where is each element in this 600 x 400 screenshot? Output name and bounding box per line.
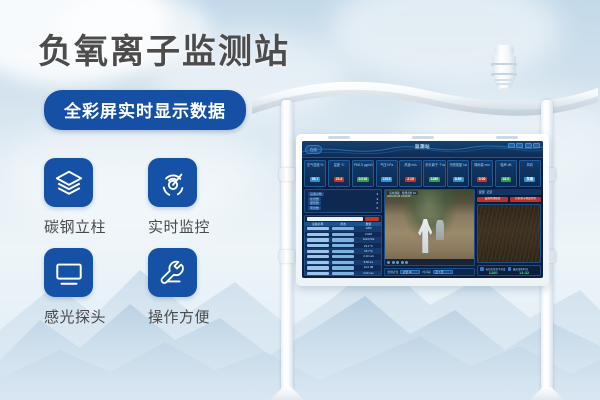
cell-value: 1280: [356, 227, 381, 230]
cell-value: 8.60 lux: [356, 261, 381, 264]
footer-values: 128014:32: [478, 270, 540, 275]
wrench-icon: [148, 248, 197, 297]
kpi-label: 气压 hPa: [378, 163, 396, 167]
range-select[interactable]: 近 7 天: [433, 270, 453, 275]
query-button[interactable]: [365, 217, 379, 221]
kpi-value: 8.60: [453, 177, 464, 182]
feature-item-1: 碳钢立柱: [44, 158, 148, 248]
table-row[interactable]: 0.00 mm: [305, 271, 381, 275]
stat-key: 设备总数: [308, 192, 324, 196]
table-rows: 12800.0181013 hPa23.4 ℃56.7 %2.10 m/s8.6…: [305, 226, 381, 275]
feature-item-3: 感光探头: [44, 248, 148, 338]
kpi-value: 1280: [429, 177, 441, 182]
footer-value: 14:32: [519, 270, 529, 275]
cell-name: [305, 238, 330, 241]
kpi-value: 0.00: [477, 177, 488, 182]
cell-name: [305, 233, 330, 236]
kpi-cell-2: 温度 ℃23.4: [328, 160, 350, 187]
kpi-cell-6: 负氧离子 个/cm31280: [423, 160, 445, 187]
kpi-cell-1: 空气湿度 %56.7: [304, 160, 326, 187]
cell-value: 0.00 mm: [356, 272, 381, 275]
kpi-value: 东南: [524, 177, 535, 182]
cell-value: 0.018: [356, 233, 381, 236]
camera-feed-secondary[interactable]: [477, 204, 541, 264]
filter-controls[interactable]: 监测点位 点位 01 时间段 近 7 天: [384, 268, 475, 276]
kpi-label: 噪声 dB: [497, 163, 515, 167]
stat-value: 3: [377, 192, 379, 196]
kpi-cell-3: PM2.5 μg/m30.018: [352, 160, 374, 187]
cell-value: 2.10 m/s: [356, 255, 381, 258]
cell-value: 23.4 ℃: [356, 244, 381, 248]
cell-value: 56.7 %: [356, 250, 381, 253]
alert-list: 设备离线报警负氧离子浓度异常: [477, 197, 541, 202]
camera-osd-time: 2023-06-18 14:32:05: [387, 195, 410, 198]
kpi-label: 负氧离子 个/cm3: [425, 163, 443, 167]
kpi-value: 56.7: [310, 177, 321, 182]
cell-status: [330, 266, 355, 269]
kpi-cell-7: 光照强度 lux8.60: [447, 160, 469, 187]
cell-value: 1013 hPa: [356, 238, 381, 241]
footer-value: 1280: [489, 270, 498, 275]
feature-item-4: 操作方便: [148, 248, 252, 338]
cell-status: [330, 233, 355, 236]
layers-icon: [44, 158, 93, 207]
kpi-label: PM2.5 μg/m3: [354, 163, 372, 167]
header-mini-widgets: [508, 143, 541, 148]
dashboard-left-column: 设备总数3在线数3报警数0离线数0 设备名称状态数值 12800.0181013…: [304, 189, 382, 276]
dashboard-title: 监测站: [415, 144, 430, 150]
pole-base: [530, 387, 564, 400]
feature-label: 碳钢立柱: [44, 216, 148, 237]
feature-item-2: 实时监控: [148, 158, 252, 248]
kpi-cell-4: 气压 hPa1013: [376, 160, 398, 187]
stat-key: 报警数: [308, 201, 321, 205]
feature-label: 操作方便: [148, 306, 252, 327]
cell-status: [330, 250, 355, 253]
feature-label: 感光探头: [44, 306, 148, 327]
kpi-label: 风向: [521, 163, 539, 167]
led-display-panel: 在线 监测站 空气湿度 %56.7温度 ℃23.4PM2.5 μg/m30.01…: [296, 134, 549, 286]
status-badge: 在线: [305, 145, 322, 154]
page-title: 负氧离子监测站: [38, 24, 290, 73]
cell-value: 42.0 dB: [356, 266, 381, 269]
pole-base: [270, 387, 304, 400]
right-tabs[interactable]: 报警记录: [477, 189, 541, 195]
cell-name: [305, 261, 330, 264]
kpi-value: 23.4: [334, 177, 345, 182]
stat-value: 3: [377, 197, 379, 201]
dashboard-center-column: 实时视频 · 监测点位 01 2023-06-18 14:32:05 监测点位 …: [384, 189, 475, 276]
pole-collar: [279, 250, 296, 263]
feature-grid: 碳钢立柱实时监控感光探头操作方便: [44, 158, 252, 338]
cell-name: [305, 255, 330, 258]
right-footer: 当前负氧离子浓度最近更新时间 128014:32: [477, 265, 541, 276]
kpi-cell-10: 风向东南: [519, 160, 541, 187]
stat-key: 离线数: [308, 206, 321, 210]
stat-value: 0: [377, 206, 379, 210]
kpi-label: 空气湿度 %: [306, 163, 324, 167]
filter-label-left: 监测点位: [387, 270, 398, 274]
cell-status: [330, 261, 355, 264]
subtitle-badge: 全彩屏实时显示数据: [44, 90, 246, 130]
alert-item[interactable]: 设备离线报警: [477, 197, 508, 202]
filter-label-right: 时间段: [422, 270, 430, 274]
summary-stats: 设备总数3在线数3报警数0离线数0: [304, 189, 382, 213]
cell-status: [330, 227, 355, 230]
radar-icon: [148, 158, 197, 207]
feature-label: 实时监控: [148, 216, 252, 237]
camera-feed-main[interactable]: 实时视频 · 监测点位 01 2023-06-18 14:32:05: [384, 189, 475, 266]
kpi-strip: 空气湿度 %56.7温度 ℃23.4PM2.5 μg/m30.018气压 hPa…: [302, 158, 543, 189]
kpi-label: 温度 ℃: [330, 163, 348, 167]
kpi-label: 降雨量 mm: [473, 163, 491, 167]
cell-name: [305, 250, 330, 253]
kpi-cell-5: 风速 m/s2.10: [399, 160, 421, 187]
right-tab-1[interactable]: 报警: [479, 190, 485, 194]
alert-item[interactable]: 负氧离子浓度异常: [510, 197, 541, 202]
cell-status: [330, 255, 355, 258]
kpi-label: 光照强度 lux: [449, 163, 467, 167]
right-tab-2[interactable]: 记录: [487, 190, 493, 194]
kpi-value: 1013: [381, 177, 393, 182]
cell-name: [305, 244, 330, 247]
search-input[interactable]: [307, 217, 363, 221]
kpi-label: 风速 m/s: [401, 163, 419, 167]
point-select[interactable]: 点位 01: [400, 270, 420, 275]
cell-status: [330, 272, 355, 275]
stat-value: 0: [377, 201, 379, 205]
summary-stat-row: 离线数0: [308, 206, 378, 211]
camera-controls[interactable]: [385, 259, 474, 265]
kpi-value: 2.10: [405, 177, 416, 182]
device-table: 设备名称状态数值 12800.0181013 hPa23.4 ℃56.7 %2.…: [304, 215, 382, 276]
cell-name: [305, 266, 330, 269]
cell-name: [305, 227, 330, 230]
cell-status: [330, 244, 355, 247]
kpi-value: 0.018: [357, 177, 370, 182]
dashboard-right-column: 报警记录 设备离线报警负氧离子浓度异常 当前负氧离子浓度最近更新时间 12801…: [477, 189, 541, 276]
cell-status: [330, 238, 355, 241]
monitor-icon: [44, 248, 93, 297]
dashboard-header: 在线 监测站: [302, 141, 543, 158]
kpi-value: 42.0: [501, 177, 512, 182]
cell-name: [305, 272, 330, 275]
pole-collar: [279, 168, 296, 181]
kpi-cell-8: 降雨量 mm0.00: [471, 160, 493, 187]
kpi-cell-9: 噪声 dB42.0: [495, 160, 517, 187]
camera-subject-secondary: [436, 220, 444, 240]
dashboard-screen: 在线 监测站 空气湿度 %56.7温度 ℃23.4PM2.5 μg/m30.01…: [302, 141, 543, 278]
dashboard-body: 设备总数3在线数3报警数0离线数0 设备名称状态数值 12800.0181013…: [302, 189, 543, 278]
